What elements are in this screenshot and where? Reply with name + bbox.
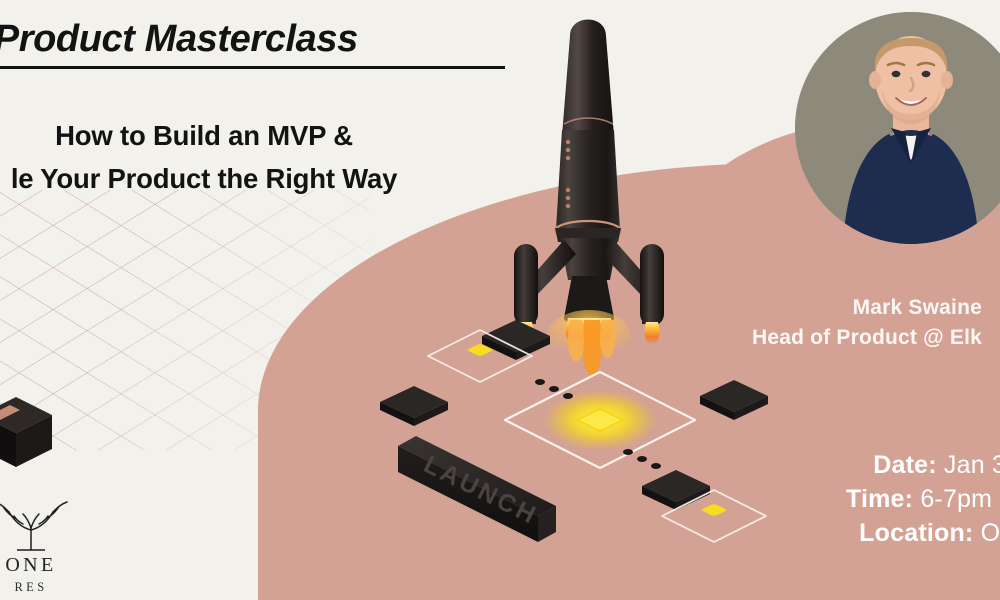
speaker-info: Mark Swaine Head of Product @ Elk bbox=[560, 296, 1000, 350]
time-value: 6-7pm GM bbox=[920, 485, 1000, 513]
date-value: Jan 31st bbox=[944, 451, 1000, 479]
date-label: Date: bbox=[873, 451, 937, 479]
subtitle-line-2: le Your Product the Right Way bbox=[0, 158, 484, 201]
page-title: tone Product Masterclass bbox=[0, 18, 505, 69]
detail-row-location: Location: Onlin bbox=[520, 516, 1000, 550]
time-label: Time: bbox=[846, 485, 913, 513]
page-subtitle: How to Build an MVP & le Your Product th… bbox=[0, 115, 484, 200]
poster-canvas: LAUNCH tone Product Masterclass How to B… bbox=[0, 0, 1000, 600]
speaker-name: Mark Swaine bbox=[560, 296, 982, 320]
logo-submark: RES bbox=[0, 580, 106, 595]
detail-row-time: Time: 6-7pm GM bbox=[520, 482, 1000, 516]
location-value: Onlin bbox=[981, 519, 1000, 547]
brand-logo: ONE RES bbox=[0, 488, 106, 594]
speaker-role: Head of Product @ Elk bbox=[560, 326, 982, 350]
subtitle-line-1: How to Build an MVP & bbox=[55, 120, 353, 151]
avatar bbox=[795, 12, 1000, 244]
isometric-cube bbox=[0, 393, 58, 473]
detail-row-date: Date: Jan 31st bbox=[520, 448, 1000, 482]
location-label: Location: bbox=[859, 519, 973, 547]
elk-antler-icon bbox=[0, 488, 75, 552]
event-details: Date: Jan 31st Time: 6-7pm GM Location: … bbox=[520, 448, 1000, 550]
logo-wordmark: ONE bbox=[0, 554, 106, 577]
